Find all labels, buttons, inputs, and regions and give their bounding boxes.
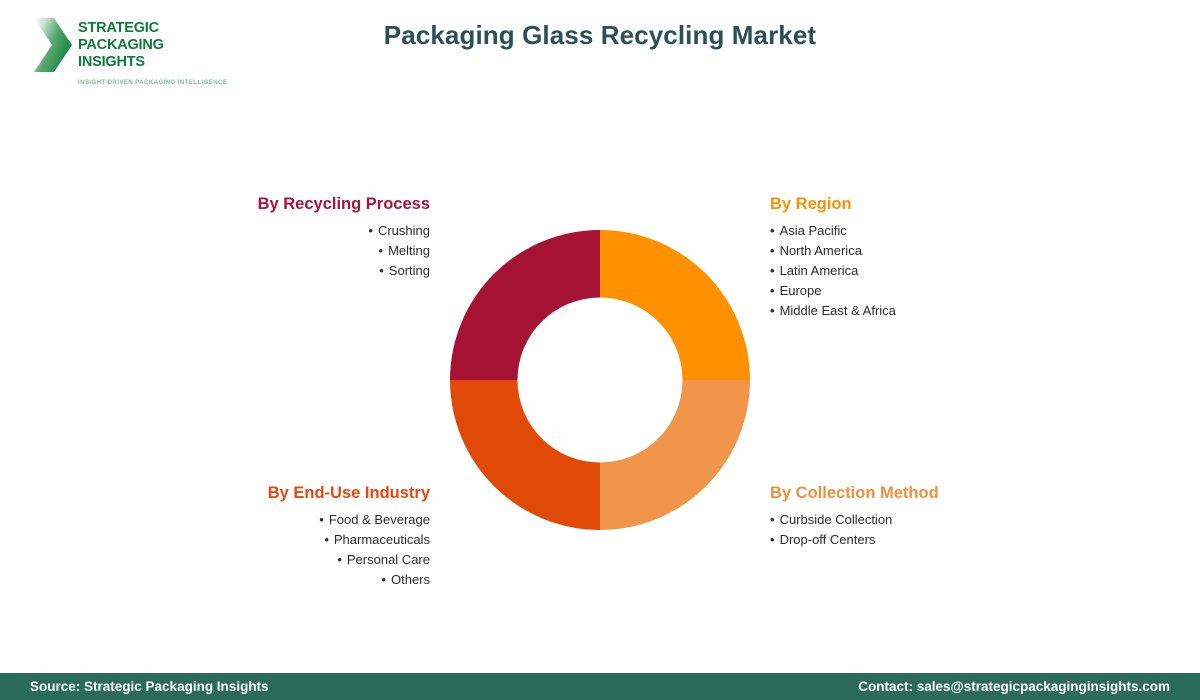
footer-source: Source: Strategic Packaging Insights (30, 679, 269, 694)
bullet-icon: • (770, 512, 775, 527)
category-list-item: •Drop-off Centers (770, 530, 1070, 550)
category-item-label: Drop-off Centers (780, 532, 876, 547)
category-title-collection-method: By Collection Method (770, 483, 1070, 503)
category-item-label: Pharmaceuticals (334, 532, 430, 547)
bullet-icon: • (337, 552, 342, 567)
category-list-item: •Personal Care (150, 550, 430, 570)
category-list-item: •North America (770, 241, 1050, 261)
bullet-icon: • (770, 223, 775, 238)
category-title-end-use-industry: By End-Use Industry (150, 483, 430, 503)
category-title-region: By Region (770, 194, 1050, 214)
bullet-icon: • (770, 263, 775, 278)
category-item-label: Curbside Collection (780, 512, 893, 527)
category-list-item: •Asia Pacific (770, 221, 1050, 241)
category-item-label: Others (391, 572, 430, 587)
logo-tagline: INSIGHT-DRIVEN PACKAGING INTELLIGENCE (78, 79, 228, 86)
category-item-label: Europe (780, 283, 822, 298)
category-item-label: Sorting (389, 263, 430, 278)
category-list-item: •Crushing (180, 221, 430, 241)
category-list-collection-method: •Curbside Collection•Drop-off Centers (770, 510, 1070, 550)
bullet-icon: • (381, 572, 386, 587)
category-list-recycling-process: •Crushing•Melting•Sorting (180, 221, 430, 281)
category-list-item: •Pharmaceuticals (150, 530, 430, 550)
donut-chart-svg (450, 230, 750, 530)
bullet-icon: • (379, 263, 384, 278)
bullet-icon: • (368, 223, 373, 238)
footer-contact[interactable]: Contact: sales@strategicpackaginginsight… (858, 679, 1170, 694)
category-block-region: By Region •Asia Pacific•North America•La… (770, 194, 1050, 321)
bullet-icon: • (324, 532, 329, 547)
category-list-item: •Latin America (770, 261, 1050, 281)
bullet-icon: • (770, 243, 775, 258)
category-list-item: •Melting (180, 241, 430, 261)
category-list-item: •Sorting (180, 261, 430, 281)
category-list-item: •Others (150, 570, 430, 590)
category-item-label: Melting (388, 243, 430, 258)
category-item-label: Personal Care (347, 552, 430, 567)
category-list-item: •Europe (770, 281, 1050, 301)
bullet-icon: • (770, 303, 775, 318)
donut-center-hole (518, 298, 683, 463)
category-item-label: Crushing (378, 223, 430, 238)
bullet-icon: • (379, 243, 384, 258)
category-block-recycling-process: By Recycling Process •Crushing•Melting•S… (180, 194, 430, 281)
donut-chart (450, 230, 750, 530)
category-list-item: •Middle East & Africa (770, 301, 1050, 321)
bullet-icon: • (770, 283, 775, 298)
category-list-item: •Food & Beverage (150, 510, 430, 530)
category-item-label: Food & Beverage (329, 512, 430, 527)
category-item-label: Asia Pacific (780, 223, 847, 238)
category-item-label: Latin America (780, 263, 859, 278)
bullet-icon: • (319, 512, 324, 527)
footer-bar: Source: Strategic Packaging Insights Con… (0, 673, 1200, 700)
category-item-label: Middle East & Africa (780, 303, 896, 318)
category-block-end-use-industry: By End-Use Industry •Food & Beverage•Pha… (150, 483, 430, 590)
category-block-collection-method: By Collection Method •Curbside Collectio… (770, 483, 1070, 550)
bullet-icon: • (770, 532, 775, 547)
category-list-region: •Asia Pacific•North America•Latin Americ… (770, 221, 1050, 321)
category-list-item: •Curbside Collection (770, 510, 1070, 530)
page-title: Packaging Glass Recycling Market (0, 20, 1200, 51)
category-list-end-use-industry: •Food & Beverage•Pharmaceuticals•Persona… (150, 510, 430, 590)
category-title-recycling-process: By Recycling Process (180, 194, 430, 214)
category-item-label: North America (780, 243, 862, 258)
